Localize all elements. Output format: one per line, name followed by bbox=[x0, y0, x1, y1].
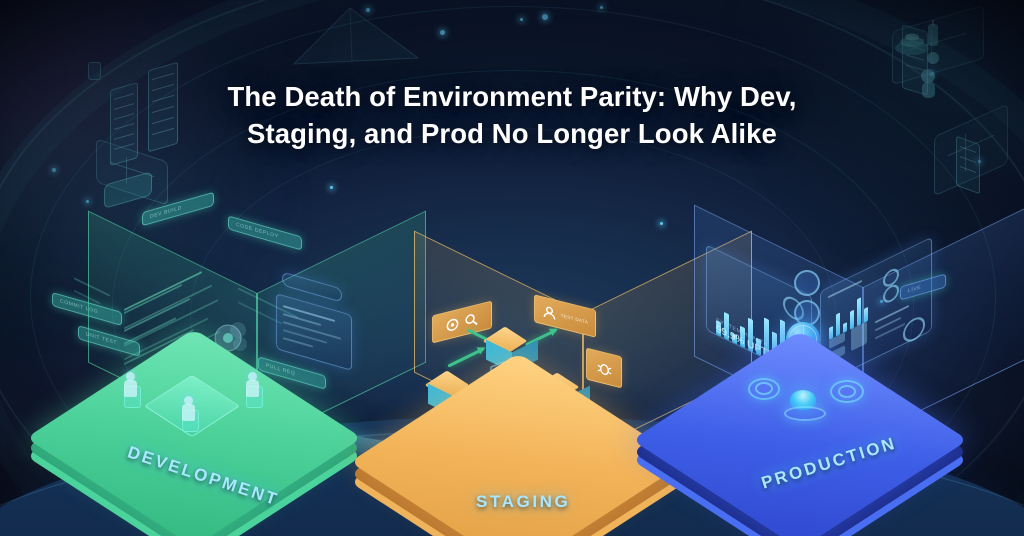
title-line-2: Staging, and Prod No Longer Look Alike bbox=[247, 118, 777, 149]
particle bbox=[52, 168, 56, 172]
chart-bar bbox=[857, 297, 861, 326]
particle bbox=[600, 6, 603, 9]
environment-staging[interactable]: TEST DATA bbox=[388, 262, 668, 472]
chart-bar bbox=[836, 313, 840, 337]
body bbox=[246, 380, 259, 397]
magnifier-icon bbox=[464, 310, 479, 329]
wireframe-triangle-top bbox=[292, 6, 422, 68]
user-check-icon bbox=[542, 303, 557, 322]
server-panel-lower bbox=[104, 171, 152, 209]
particle bbox=[978, 160, 981, 163]
environment-development[interactable]: DEV BUILD CODE DEPLOY COMMIT LOG UNIT TE… bbox=[60, 230, 360, 460]
particle bbox=[520, 18, 523, 21]
particle bbox=[366, 8, 370, 12]
body bbox=[182, 404, 195, 421]
title-rest: Why Dev, bbox=[666, 81, 796, 112]
staging-card-bug[interactable] bbox=[586, 348, 622, 389]
bug-icon bbox=[596, 357, 613, 378]
dev-chip-0[interactable]: DEV BUILD bbox=[142, 192, 214, 227]
body bbox=[124, 380, 137, 397]
user-avatar-icon bbox=[903, 313, 925, 346]
flow-arrow bbox=[447, 347, 484, 367]
environment-production[interactable]: SYSTEM HEALTH 99.9% UPTIME LIVE bbox=[668, 230, 968, 460]
dev-chip-1[interactable]: CODE DEPLOY bbox=[228, 215, 302, 250]
alert-icon[interactable] bbox=[794, 270, 820, 296]
hero-illustration: DEV BUILD CODE DEPLOY COMMIT LOG UNIT TE… bbox=[0, 0, 1024, 536]
chart-bar bbox=[864, 307, 868, 323]
particle bbox=[542, 14, 548, 20]
particle bbox=[440, 30, 445, 35]
server-node-small bbox=[88, 62, 101, 80]
particle bbox=[660, 222, 663, 225]
page-title: The Death of Environment Parity: Why Dev… bbox=[0, 78, 1024, 152]
radar-ring-right-inner bbox=[838, 385, 856, 398]
title-highlight: The Death of Environment Parity: bbox=[228, 81, 667, 112]
beacon-base-ring bbox=[784, 406, 826, 421]
dev-chip-3[interactable]: UNIT TEST bbox=[78, 325, 140, 357]
gear-icon bbox=[445, 315, 460, 334]
particle bbox=[330, 186, 333, 189]
staging-card-label: TEST DATA bbox=[561, 312, 589, 324]
panel-header-line bbox=[828, 280, 862, 299]
radar-ring-left-inner bbox=[755, 382, 773, 395]
panel-line bbox=[875, 323, 905, 340]
code-line bbox=[124, 284, 182, 314]
dev-editor-panel[interactable] bbox=[276, 293, 352, 371]
label-staging: STAGING bbox=[476, 492, 570, 512]
particle bbox=[86, 200, 89, 203]
staging-card-test-data[interactable]: TEST DATA bbox=[534, 294, 596, 337]
editor-line bbox=[283, 305, 335, 322]
